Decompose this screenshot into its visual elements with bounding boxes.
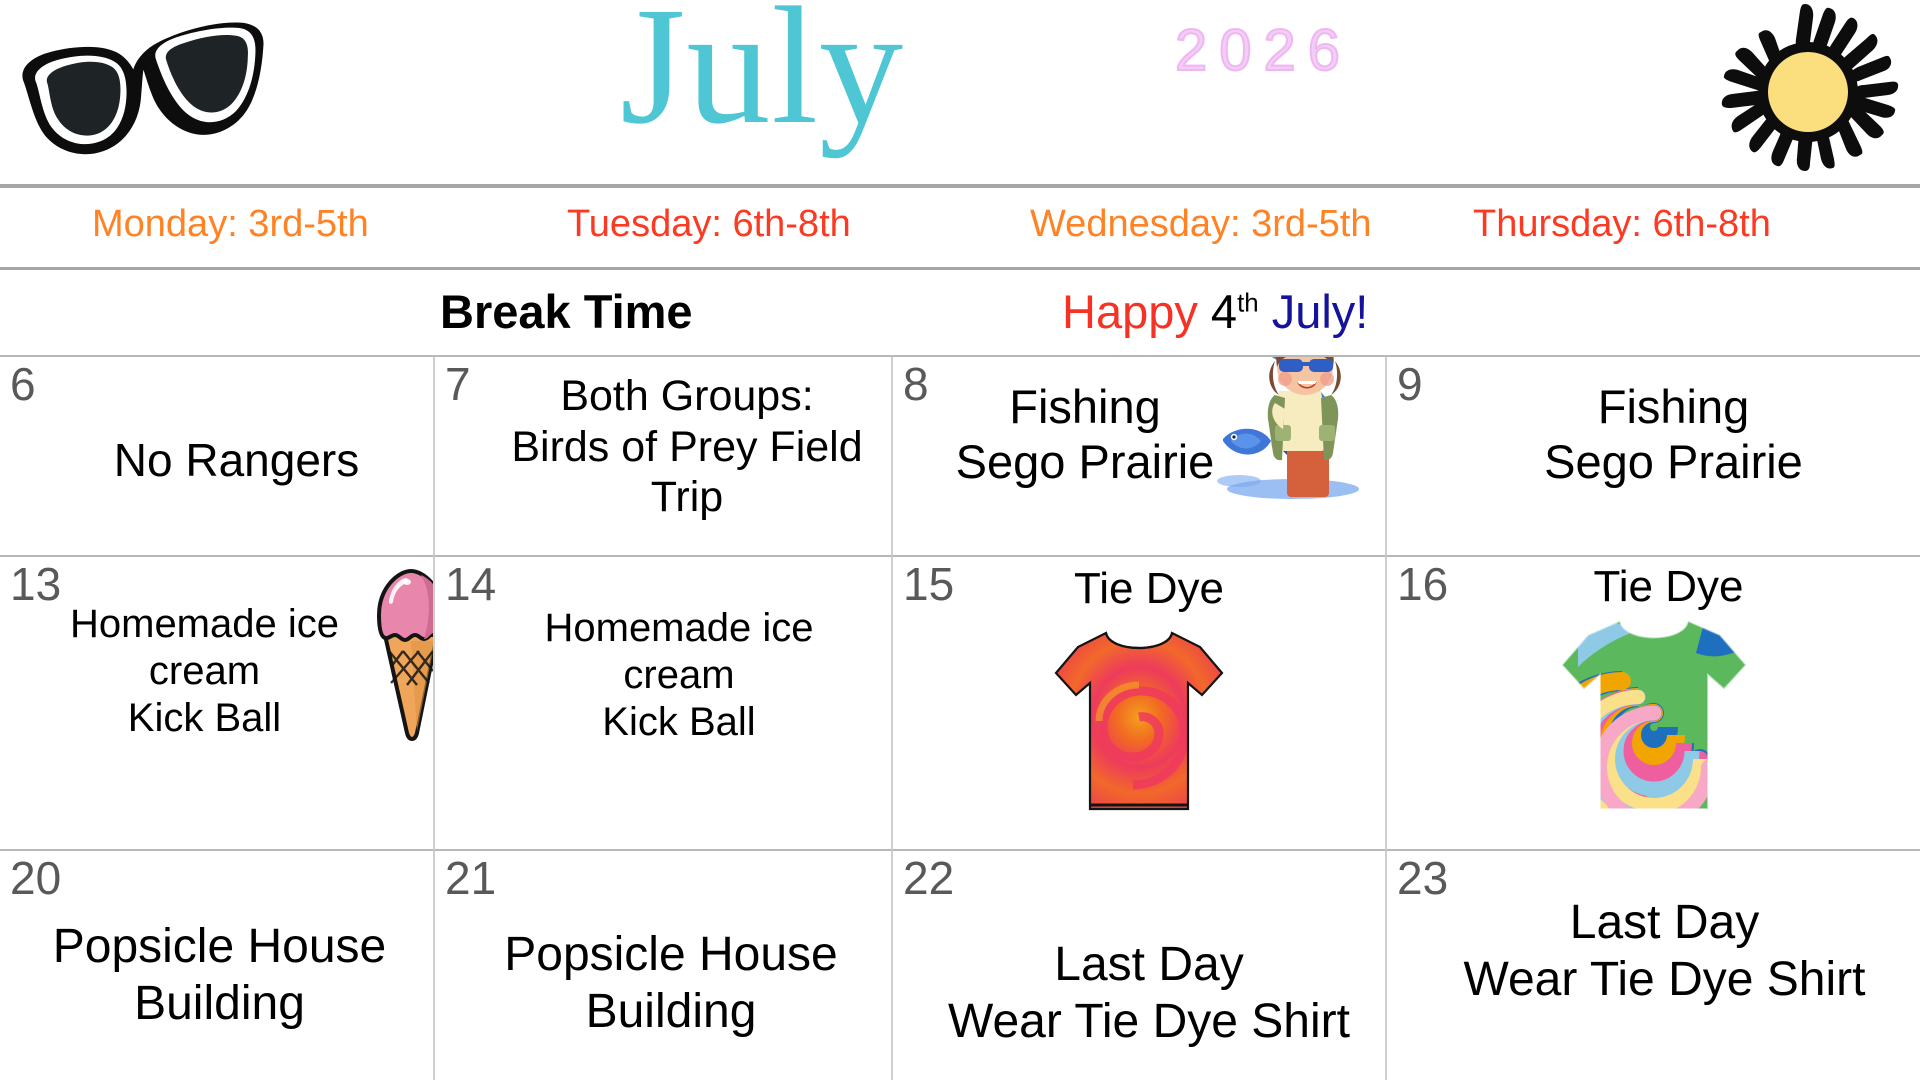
event-line: Wear Tie Dye Shirt	[1409, 952, 1920, 1009]
day-cell-13[interactable]: 13 Homemade ice cream Kick Ball	[0, 557, 435, 851]
day-events: Last Day Wear Tie Dye Shirt	[1387, 895, 1920, 1008]
event-line: Building	[451, 984, 891, 1041]
day-cell-23[interactable]: 23 Last Day Wear Tie Dye Shirt	[1387, 851, 1920, 1080]
day-cell-14[interactable]: 14 Homemade ice cream Kick Ball	[435, 557, 893, 851]
tie-dye-shirt-orange-illustration	[1050, 625, 1228, 817]
event-line: Fishing	[893, 379, 1277, 434]
holiday-note-number: 4	[1211, 285, 1237, 338]
day-events: Fishing Sego Prairie	[893, 379, 1385, 490]
sun-icon	[1705, 2, 1910, 187]
event-line: Last Day	[913, 937, 1385, 994]
weekday-header-wednesday: Wednesday: 3rd-5th	[1030, 202, 1372, 248]
event-line: Building	[6, 976, 433, 1033]
day-cell-6[interactable]: 6 No Rangers	[0, 357, 435, 557]
day-cell-22[interactable]: 22 Last Day Wear Tie Dye Shirt	[893, 851, 1387, 1080]
event-line: Fishing	[1427, 379, 1920, 434]
notes-row: Break Time Happy 4th July!	[0, 270, 1920, 354]
day-events: Tie Dye	[893, 563, 1385, 615]
event-line: Birds of Prey Field	[493, 422, 881, 473]
day-events: Tie Dye	[1387, 561, 1920, 613]
calendar-header: July 2026	[0, 0, 1920, 188]
day-cell-9[interactable]: 9 Fishing Sego Prairie	[1387, 357, 1920, 557]
event-line: cream	[467, 652, 891, 699]
day-cell-16[interactable]: 16 Tie Dye	[1387, 557, 1920, 851]
day-number: 6	[10, 361, 36, 407]
holiday-note: Happy 4th July!	[1062, 284, 1368, 339]
month-title: July	[620, 0, 904, 150]
event-line: Last Day	[1409, 895, 1920, 952]
holiday-note-prefix: Happy	[1062, 285, 1198, 338]
event-line: Sego Prairie	[1427, 434, 1920, 489]
day-events: Homemade ice cream Kick Ball	[0, 601, 433, 743]
event-line: Trip	[493, 472, 881, 523]
day-events: Both Groups: Birds of Prey Field Trip	[435, 371, 891, 523]
holiday-note-ordinal: th	[1237, 289, 1259, 317]
holiday-note-suffix: July!	[1272, 285, 1369, 338]
weekday-header-row: Monday: 3rd-5th Tuesday: 6th-8th Wednesd…	[0, 188, 1920, 270]
event-line: Homemade ice	[0, 601, 409, 648]
day-cell-20[interactable]: 20 Popsicle House Building	[0, 851, 435, 1080]
event-line: Popsicle House	[451, 927, 891, 984]
day-cell-8[interactable]: 8 Fishing Sego Prairie	[893, 357, 1387, 557]
day-events: Homemade ice cream Kick Ball	[435, 605, 891, 747]
day-events: Popsicle House Building	[0, 919, 433, 1032]
day-number: 20	[10, 855, 61, 901]
break-time-note: Break Time	[440, 284, 693, 339]
day-cell-21[interactable]: 21 Popsicle House Building	[435, 851, 893, 1080]
day-events: Fishing Sego Prairie	[1387, 379, 1920, 490]
day-number: 22	[903, 855, 954, 901]
event-line: Popsicle House	[6, 919, 433, 976]
event-line: No Rangers	[40, 433, 433, 487]
day-events: Popsicle House Building	[435, 927, 891, 1040]
day-cell-15[interactable]: 15 Tie Dye	[893, 557, 1387, 851]
day-number: 14	[445, 561, 496, 607]
day-events: Last Day Wear Tie Dye Shirt	[893, 937, 1385, 1050]
event-line: Both Groups:	[493, 371, 881, 422]
tie-dye-shirt-rainbow-illustration	[1554, 613, 1754, 813]
event-line: Kick Ball	[467, 699, 891, 746]
year-title: 2026	[1175, 22, 1352, 80]
event-line: Wear Tie Dye Shirt	[913, 994, 1385, 1051]
event-line: Homemade ice	[467, 605, 891, 652]
event-line: cream	[0, 648, 409, 695]
event-line: Kick Ball	[0, 695, 409, 742]
day-number: 21	[445, 855, 496, 901]
weekday-header-tuesday: Tuesday: 6th-8th	[567, 202, 851, 248]
calendar-page: July 2026	[0, 0, 1920, 1080]
weekday-header-monday: Monday: 3rd-5th	[92, 202, 369, 248]
event-line: Tie Dye	[1417, 561, 1920, 613]
sunglasses-icon	[8, 6, 278, 166]
day-events: No Rangers	[0, 433, 433, 487]
calendar-grid: 6 No Rangers 7 Both Groups: Birds of Pre…	[0, 355, 1920, 1080]
event-line: Tie Dye	[913, 563, 1385, 615]
event-line: Sego Prairie	[893, 434, 1277, 489]
day-cell-7[interactable]: 7 Both Groups: Birds of Prey Field Trip	[435, 357, 893, 557]
weekday-header-thursday: Thursday: 6th-8th	[1473, 202, 1771, 248]
